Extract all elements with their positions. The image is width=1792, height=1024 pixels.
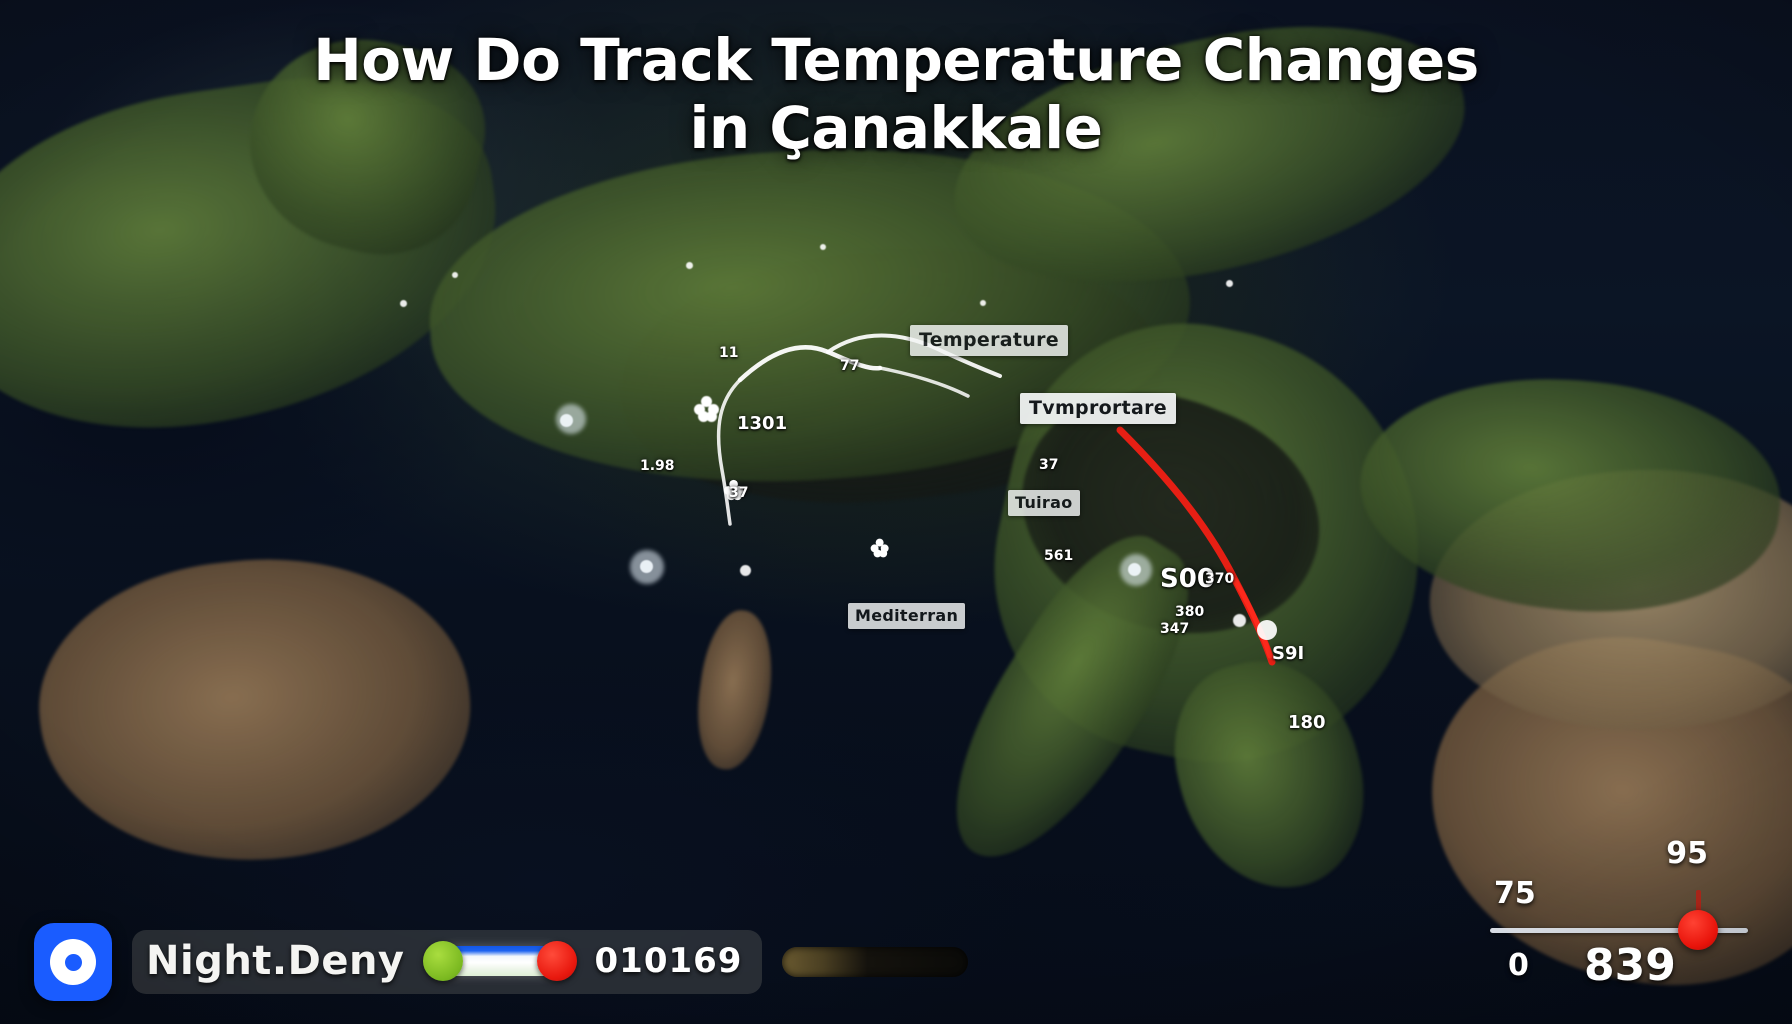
bottom-right-gauge: 95 75 0 839 [1476,852,1766,1002]
route-endpoint-marker [1257,620,1277,640]
map-value: 37 [1039,457,1058,473]
map-value: 380 [1175,604,1204,620]
route-white-branch-c [719,380,740,524]
map-label-sea[interactable]: Mediterran [848,603,965,629]
slider-handle-end[interactable] [537,941,577,981]
progress-bar[interactable] [782,947,968,977]
map-label-region[interactable]: Tuirao [1008,490,1080,516]
gauge-value: 839 [1584,940,1676,991]
map-value: 1.98 [640,458,675,474]
map-label-temperature-1[interactable]: Temperature [910,325,1068,356]
hud-control-strip: Night.Deny 010169 [132,930,762,994]
target-ring-icon [50,939,96,985]
counter-readout: 010169 [595,941,743,981]
map-value: 1301 [737,413,787,434]
map-value: S9I [1272,643,1304,664]
map-value: 11 [719,345,738,361]
map-value: 180 [1288,712,1326,733]
bottom-left-hud: Night.Deny 010169 [34,914,968,1010]
range-slider[interactable] [423,940,577,982]
app-logo-button[interactable] [34,923,112,1001]
map-value: 37 [729,485,748,501]
route-red-segment [1235,580,1270,656]
map-value: 370 [1205,571,1234,587]
map-value: 77 [840,358,859,374]
slider-handle-start[interactable] [423,941,463,981]
status-text: Night.Deny [146,938,405,984]
gauge-lower-tick: 0 [1508,948,1529,983]
gauge-max-label: 95 [1666,836,1708,871]
map-value: 347 [1160,621,1189,637]
gauge-handle[interactable] [1678,910,1718,950]
map-label-temperature-2[interactable]: Tvmprortare [1020,393,1176,424]
gauge-upper-tick: 75 [1494,876,1536,911]
screenshot-root: Temperature Tvmprortare Tuirao Mediterra… [0,0,1792,1024]
map-value: 561 [1044,548,1073,564]
route-red-main [1120,430,1272,662]
target-ring-center [65,954,82,971]
route-white-branch-d [880,368,968,396]
